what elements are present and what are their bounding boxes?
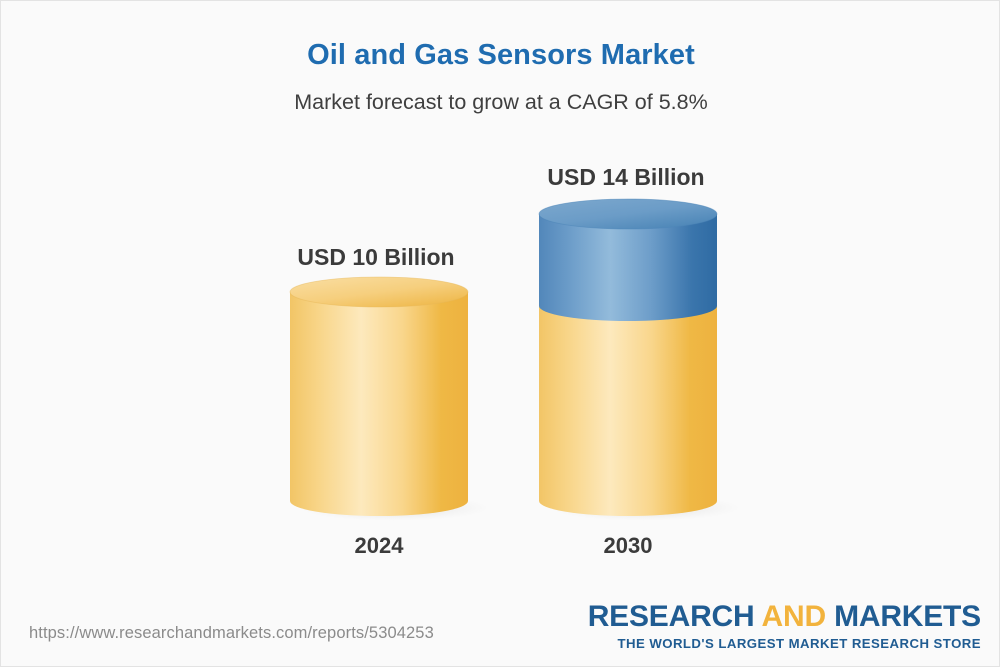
logo-tagline: THE WORLD'S LARGEST MARKET RESEARCH STOR…	[588, 637, 981, 650]
bar-category-label-2024: 2024	[284, 533, 474, 559]
cylinder-2024	[284, 279, 474, 523]
cylinder-2030	[533, 198, 723, 523]
logo-wordmark: RESEARCH AND MARKETS	[588, 602, 981, 632]
bar-category-label-2030: 2030	[533, 533, 723, 559]
chart-plot-area: USD 10 Billion	[1, 1, 1000, 601]
logo-word-markets: MARKETS	[834, 600, 981, 633]
research-and-markets-logo[interactable]: RESEARCH AND MARKETS THE WORLD'S LARGEST…	[588, 602, 981, 650]
cylinder-segment-base-2030	[539, 306, 717, 516]
cylinder-body-2024	[290, 292, 468, 516]
bar-value-label-2030: USD 14 Billion	[531, 164, 721, 191]
cylinder-segment-growth-2030	[539, 214, 717, 321]
infographic-canvas: Oil and Gas Sensors Market Market foreca…	[0, 0, 1000, 667]
bar-value-label-2024: USD 10 Billion	[281, 244, 471, 271]
logo-word-research: RESEARCH	[588, 600, 755, 633]
source-url[interactable]: https://www.researchandmarkets.com/repor…	[29, 624, 434, 643]
logo-word-and: AND	[762, 600, 826, 633]
